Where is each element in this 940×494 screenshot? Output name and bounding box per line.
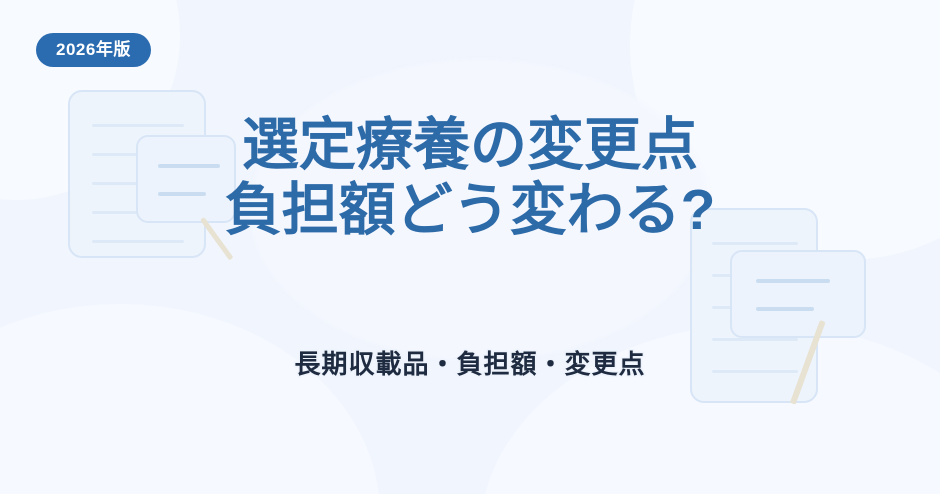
page-title-line-2: 負担額どう変わる? [225, 178, 716, 243]
page-subtitle: 長期収載品・負担額・変更点 [294, 344, 645, 381]
hero-banner: 2026年版 選定療養の変更点 負担額どう変わる? 長期収載品・負担額・変更点 [0, 0, 940, 494]
page-title: 選定療養の変更点 負担額どう変わる? [225, 113, 716, 243]
page-title-line-1: 選定療養の変更点 [225, 113, 716, 178]
hero-content: 選定療養の変更点 負担額どう変わる? 長期収載品・負担額・変更点 [0, 0, 940, 494]
